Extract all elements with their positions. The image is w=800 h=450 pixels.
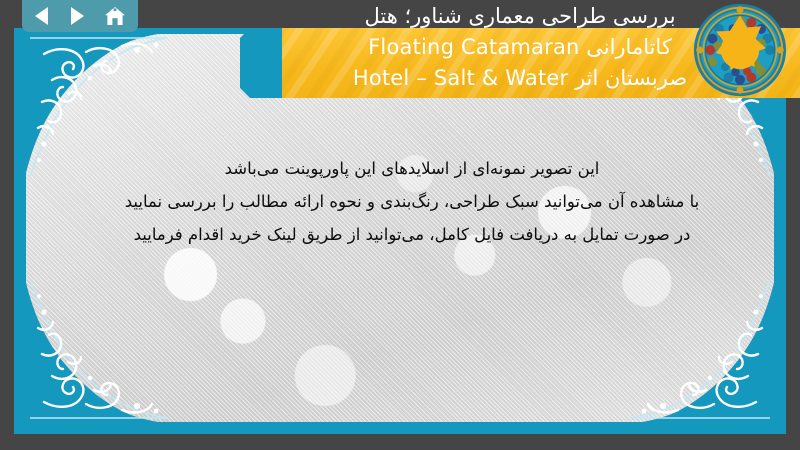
body-line-1: این تصویر نمونه‌ای از اسلایدهای این پاور…	[56, 152, 768, 185]
body-line-3: در صورت تمایل به دریافت فایل کامل، می‌تو…	[56, 218, 768, 251]
triangle-right-icon	[71, 7, 84, 25]
slide-body-text: این تصویر نمونه‌ای از اسلایدهای این پاور…	[56, 152, 768, 251]
navigation-controls	[22, 0, 138, 32]
home-icon	[104, 6, 126, 26]
arabesque-corner-flourish-bottom-left	[26, 274, 174, 422]
body-line-2: با مشاهده آن می‌توانید سبک طراحی، رنگ‌بن…	[56, 185, 768, 218]
next-slide-button[interactable]	[58, 0, 96, 32]
islamic-rosette-ornament	[692, 2, 788, 98]
triangle-left-icon	[35, 7, 48, 25]
slide-viewer: این تصویر نمونه‌ای از اسلایدهای این پاور…	[0, 0, 800, 450]
previous-slide-button[interactable]	[22, 0, 60, 32]
home-button[interactable]	[96, 0, 134, 32]
arabesque-corner-flourish-bottom-right	[626, 274, 774, 422]
